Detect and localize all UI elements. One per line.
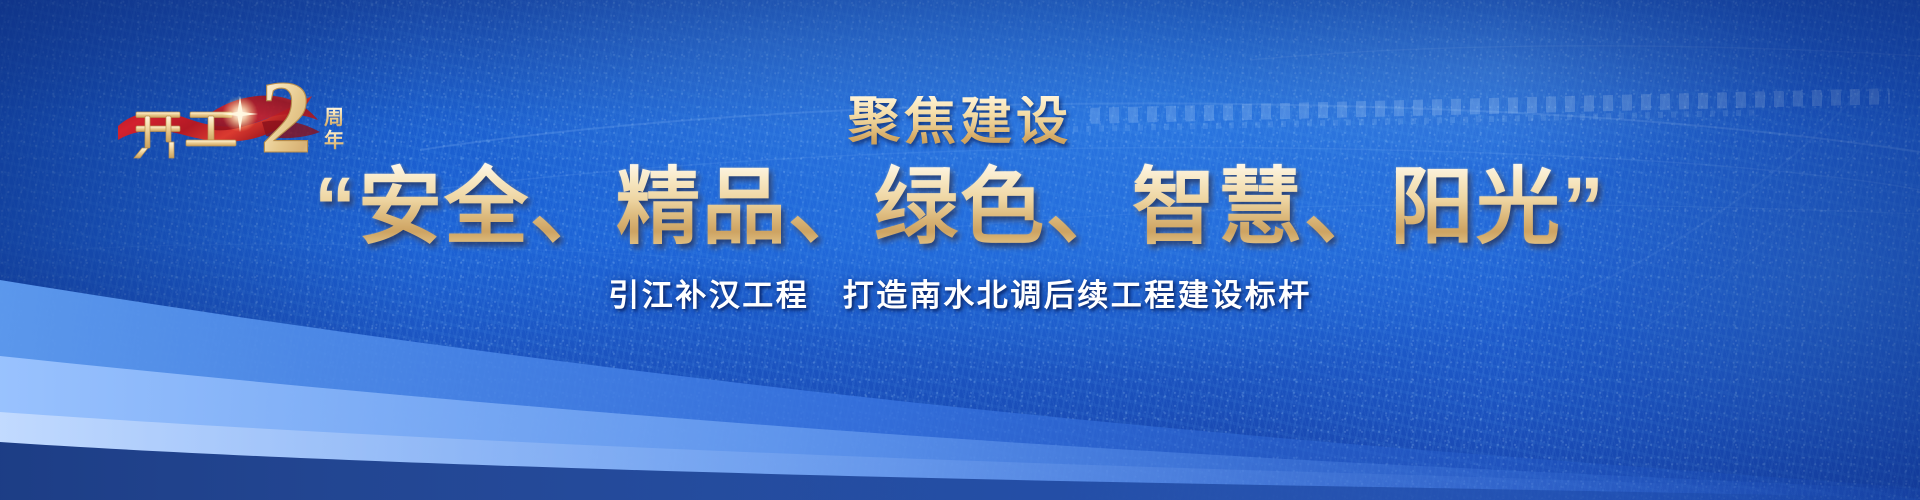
number-two: 2 (260, 60, 312, 175)
svg-text:2: 2 (260, 60, 312, 175)
anniversary-char-nian: 年 (324, 128, 344, 152)
wave-ribbons (0, 260, 1920, 500)
promo-banner: 2 周 年 聚焦建设 “安全、精品、绿色、智慧、阳光” 引江补汉工程 打造南水北… (0, 0, 1920, 500)
anniversary-logo: 2 周 年 (112, 52, 352, 162)
anniversary-characters: 周 年 (324, 107, 344, 152)
anniversary-char-zhou: 周 (324, 107, 344, 129)
